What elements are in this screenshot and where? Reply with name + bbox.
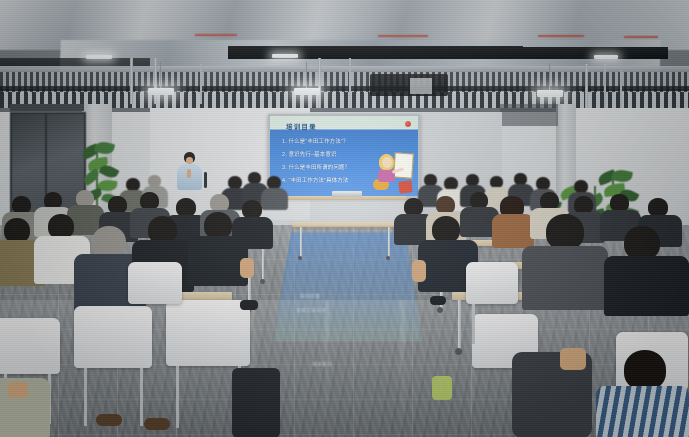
attendee-arm (240, 258, 254, 278)
chair-leg (140, 368, 143, 426)
easel-base (398, 180, 412, 193)
shoe (240, 300, 258, 310)
ceiling-pipe (585, 64, 588, 110)
flipchart-board (393, 152, 414, 178)
notebook-on-chair (432, 376, 452, 400)
table-caster (437, 307, 443, 313)
attendee-head (624, 350, 666, 390)
ceiling-strip-light (272, 54, 298, 58)
ceiling-pipe (349, 58, 351, 108)
chair-backrest (74, 306, 152, 368)
attendee-legs (232, 368, 280, 437)
floor-reflection-streak (325, 300, 329, 437)
shoe (96, 414, 122, 426)
podium-equipment (332, 191, 362, 197)
ceiling-strip-light (594, 55, 618, 59)
table-leg (262, 246, 264, 280)
slide-illustration-cartoon (366, 150, 414, 194)
ceiling-strip-light (86, 55, 112, 59)
chair-backrest (466, 262, 518, 304)
table-caster (298, 256, 302, 260)
floor-reflection-streak (400, 300, 405, 437)
table-leg (388, 227, 390, 257)
suspended-panel-light (148, 88, 174, 95)
chair-backrest (166, 300, 250, 366)
ceiling-pipe (620, 70, 622, 112)
light-suspension-rod (549, 64, 550, 90)
suspended-panel-light (537, 90, 563, 97)
presenter-arm (187, 169, 191, 178)
wall-shadow-band (500, 104, 558, 126)
ceiling-equipment-panel (410, 78, 432, 94)
ceiling-pipe (318, 58, 321, 108)
company-logo-icon (405, 121, 411, 127)
chair-leg (84, 368, 87, 426)
attendee-torso (188, 236, 248, 286)
duct-tape-marking (624, 36, 658, 38)
chair-backrest (0, 318, 60, 374)
table-row-far (292, 222, 398, 227)
chair-leg (176, 366, 179, 428)
chair-leg (472, 304, 475, 344)
duct-tape-marking (195, 34, 237, 36)
light-suspension-rod (160, 62, 161, 88)
shoe (144, 418, 170, 430)
suspended-panel-light (294, 88, 320, 95)
attendee-torso (522, 246, 608, 310)
slide-bullet-1: 1. 什么是“丰田工作方法”？ (282, 136, 382, 149)
attendee-head (624, 226, 660, 260)
attendee-head (432, 216, 460, 243)
cartoon-face (382, 157, 392, 168)
attendee-arm (412, 260, 426, 282)
presenter-face (186, 157, 193, 164)
duct-tape-marking (378, 35, 428, 37)
table-leg (458, 300, 461, 350)
attendee-arm (560, 348, 586, 370)
attendee-head (546, 214, 584, 250)
door-header (10, 104, 84, 111)
table-caster (455, 348, 462, 355)
table-leg (300, 227, 302, 257)
light-suspension-rod (306, 62, 307, 88)
table-caster (260, 279, 265, 284)
attendee-head (204, 212, 232, 239)
ceiling (0, 0, 689, 118)
table-caster (386, 256, 390, 260)
shoe (430, 296, 446, 305)
ceiling-pipe (154, 58, 157, 104)
ceiling-pipe (130, 58, 133, 104)
ceiling-pipe (200, 64, 202, 104)
duct-tape-marking (538, 35, 584, 37)
attendee-torso (604, 256, 689, 316)
attendee-torso-rust (492, 214, 534, 248)
reflection-text-1: 培训目录 (300, 292, 320, 299)
training-room-photo: 培训目录 1. 什么是“丰田工作方法”？ 2. 意识先行–基本意识 3. 什么是… (0, 0, 689, 437)
attendee-arm (8, 382, 28, 398)
ceiling-equipment (370, 74, 448, 96)
projection-screen: 培训目录 1. 什么是“丰田工作方法”？ 2. 意识先行–基本意识 3. 什么是… (270, 116, 418, 196)
attendee-torso (261, 188, 288, 210)
microphone-stand (204, 172, 207, 188)
ceiling-pipe (604, 64, 606, 110)
attendee-torso-striped (596, 386, 689, 437)
chair-backrest (128, 262, 182, 304)
slide-title: 培训目录 (286, 121, 317, 131)
presenter (176, 152, 202, 192)
